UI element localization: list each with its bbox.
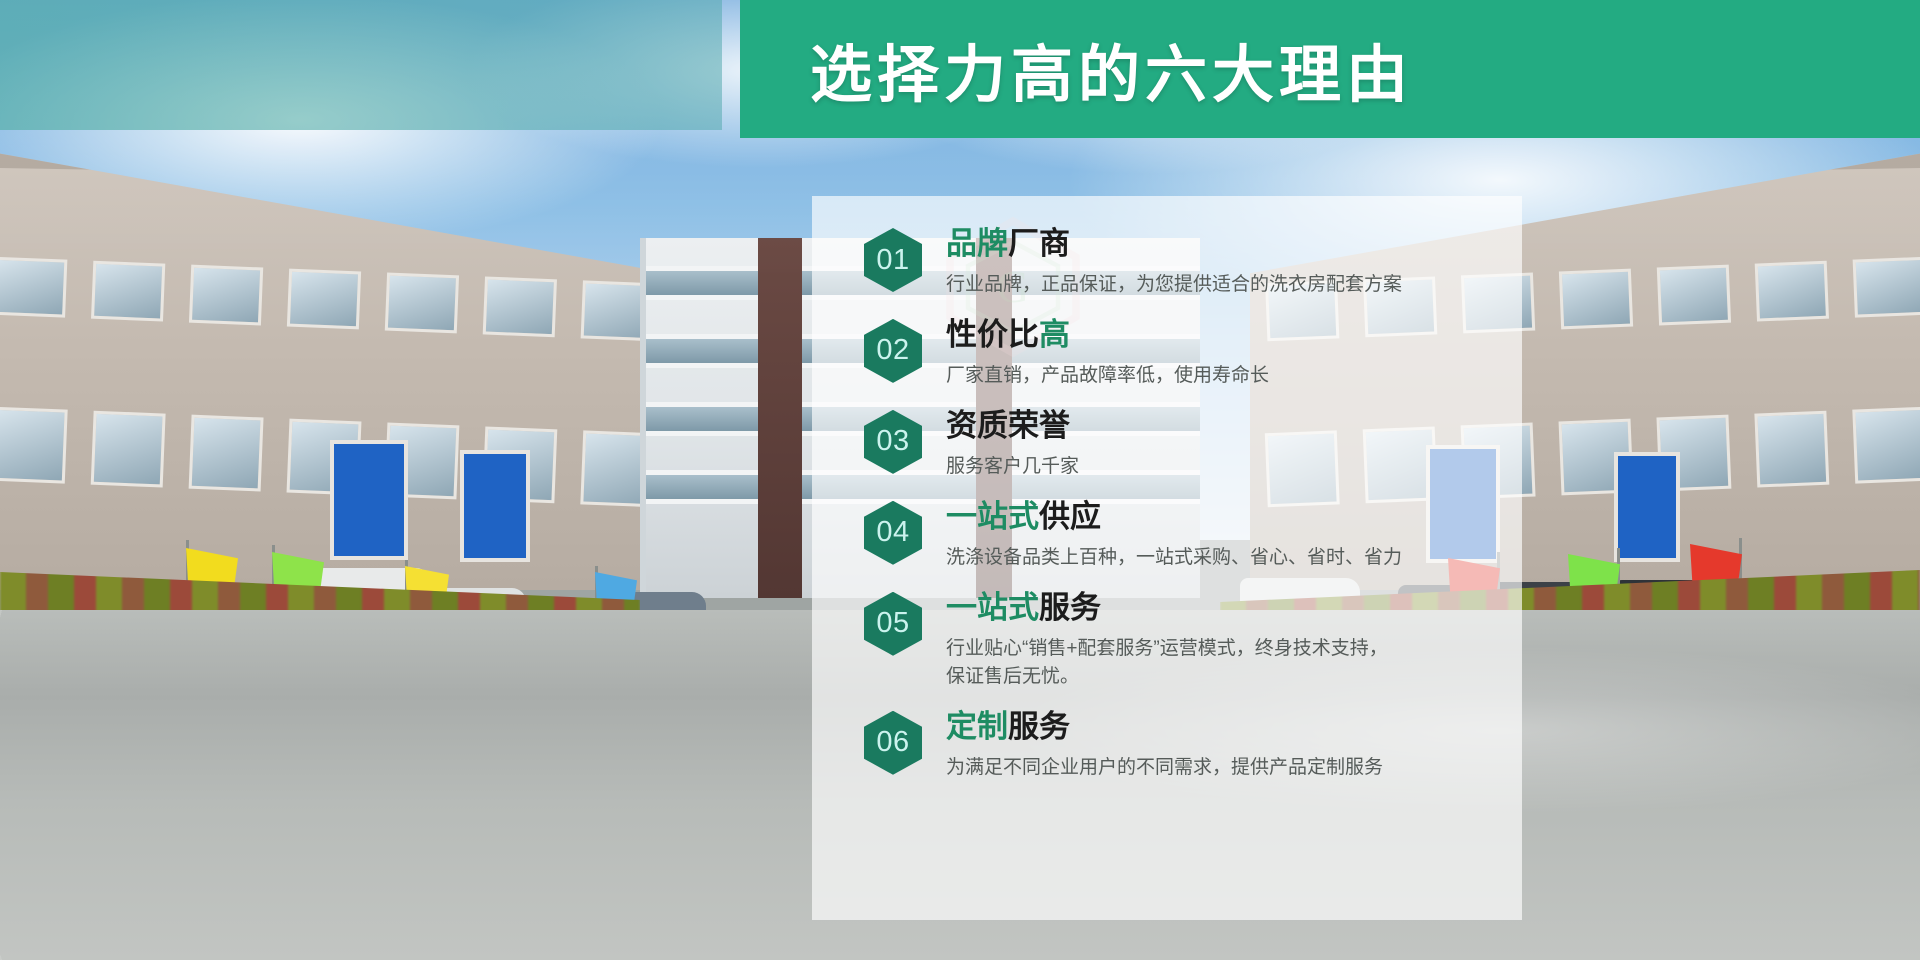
door-right-blue-2 xyxy=(1614,452,1680,562)
feature-title-rest-06: 服务 xyxy=(1008,709,1070,745)
feature-title-rest-04: 供应 xyxy=(1039,499,1101,535)
feature-number-05: 05 xyxy=(876,607,909,640)
door-left-blue xyxy=(330,440,408,560)
building-left-window-row-lower xyxy=(0,407,655,507)
header-left-tint xyxy=(0,0,722,130)
feature-title-highlight-06: 定制 xyxy=(946,709,1008,745)
feature-title-highlight-01: 品牌 xyxy=(946,226,1008,262)
feature-title-part-02a: 性价比 xyxy=(946,317,1039,353)
feature-body-01: 品牌厂商 行业品牌，正品保证，为您提供适合的洗衣房配套方案 xyxy=(864,226,1504,299)
header-green-banner: 选择力高的六大理由 xyxy=(740,0,1920,138)
feature-desc-01-line-1: 行业品牌，正品保证，为您提供适合的洗衣房配套方案 xyxy=(946,271,1504,299)
feature-body-02: 性价比高 厂家直销，产品故障率低，使用寿命长 xyxy=(864,317,1504,390)
feature-item-06[interactable]: 06 定制服务 为满足不同企业用户的不同需求，提供产品定制服务 xyxy=(864,709,1504,782)
feature-body-05: 一站式服务 行业贴心“销售+配套服务”运营模式，终身技术支持， 保证售后无忧。 xyxy=(864,590,1504,691)
feature-number-02: 02 xyxy=(876,334,909,367)
page-title: 选择力高的六大理由 xyxy=(810,24,1413,114)
feature-body-04: 一站式供应 洗涤设备品类上百种，一站式采购、省心、省时、省力 xyxy=(864,499,1504,572)
feature-desc-02-line-1: 厂家直销，产品故障率低，使用寿命长 xyxy=(946,362,1504,390)
feature-title-rest-05: 服务 xyxy=(1039,590,1101,626)
feature-item-05[interactable]: 05 一站式服务 行业贴心“销售+配套服务”运营模式，终身技术支持， 保证售后无… xyxy=(864,590,1504,691)
feature-title-highlight-05: 一站式 xyxy=(946,590,1039,626)
feature-title-02: 性价比高 xyxy=(946,317,1504,355)
feature-number-06: 06 xyxy=(876,726,909,759)
features-list: 01 品牌厂商 行业品牌，正品保证，为您提供适合的洗衣房配套方案 02 性价比高 xyxy=(864,226,1504,800)
feature-desc-06-line-1: 为满足不同企业用户的不同需求，提供产品定制服务 xyxy=(946,754,1504,782)
building-left-window-row-upper xyxy=(0,257,655,341)
feature-desc-03-line-1: 服务客户几千家 xyxy=(946,453,1504,481)
feature-title-highlight-04: 一站式 xyxy=(946,499,1039,535)
feature-title-03: 资质荣誉 xyxy=(946,408,1504,446)
feature-number-04: 04 xyxy=(876,516,909,549)
feature-desc-01: 行业品牌，正品保证，为您提供适合的洗衣房配套方案 xyxy=(946,271,1504,299)
feature-title-rest-01: 厂商 xyxy=(1008,226,1070,262)
feature-item-01[interactable]: 01 品牌厂商 行业品牌，正品保证，为您提供适合的洗衣房配套方案 xyxy=(864,226,1504,299)
feature-desc-05: 行业贴心“销售+配套服务”运营模式，终身技术支持， 保证售后无忧。 xyxy=(946,635,1504,691)
feature-item-03[interactable]: 03 资质荣誉 服务客户几千家 xyxy=(864,408,1504,481)
feature-item-04[interactable]: 04 一站式供应 洗涤设备品类上百种，一站式采购、省心、省时、省力 xyxy=(864,499,1504,572)
header: 选择力高的六大理由 xyxy=(0,0,1920,138)
feature-title-rest-03: 资质荣誉 xyxy=(946,408,1070,444)
feature-desc-04: 洗涤设备品类上百种，一站式采购、省心、省时、省力 xyxy=(946,544,1504,572)
features-panel: 01 品牌厂商 行业品牌，正品保证，为您提供适合的洗衣房配套方案 02 性价比高 xyxy=(812,196,1522,920)
feature-title-01: 品牌厂商 xyxy=(946,226,1504,264)
feature-body-06: 定制服务 为满足不同企业用户的不同需求，提供产品定制服务 xyxy=(864,709,1504,782)
feature-title-04: 一站式供应 xyxy=(946,499,1504,537)
feature-number-03: 03 xyxy=(876,425,909,458)
feature-title-06: 定制服务 xyxy=(946,709,1504,747)
door-left-blue-2 xyxy=(460,450,530,562)
feature-desc-03: 服务客户几千家 xyxy=(946,453,1504,481)
feature-number-01: 01 xyxy=(876,244,909,277)
feature-item-02[interactable]: 02 性价比高 厂家直销，产品故障率低，使用寿命长 xyxy=(864,317,1504,390)
feature-title-05: 一站式服务 xyxy=(946,590,1504,628)
feature-desc-06: 为满足不同企业用户的不同需求，提供产品定制服务 xyxy=(946,754,1504,782)
feature-desc-05-line-2: 保证售后无忧。 xyxy=(946,663,1504,691)
feature-desc-02: 厂家直销，产品故障率低，使用寿命长 xyxy=(946,362,1504,390)
feature-body-03: 资质荣誉 服务客户几千家 xyxy=(864,408,1504,481)
feature-desc-04-line-1: 洗涤设备品类上百种，一站式采购、省心、省时、省力 xyxy=(946,544,1504,572)
feature-title-part-02b: 高 xyxy=(1039,317,1070,353)
feature-desc-05-line-1: 行业贴心“销售+配套服务”运营模式，终身技术支持， xyxy=(946,635,1504,663)
